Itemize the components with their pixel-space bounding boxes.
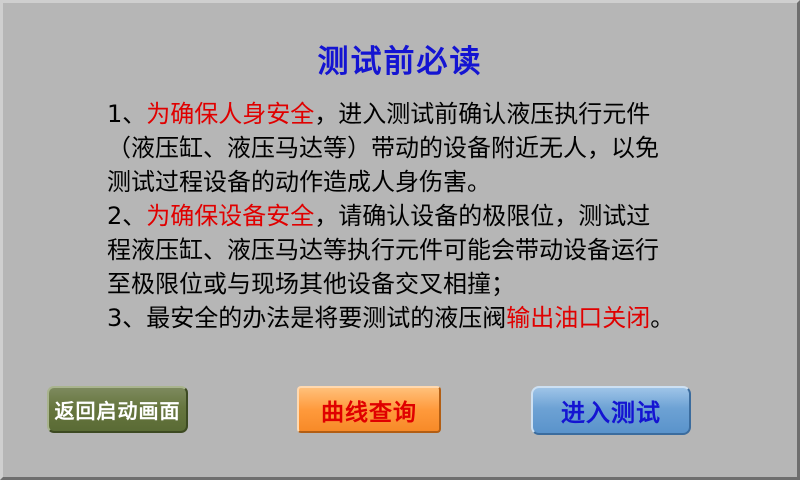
enter-test-button-label: 进入测试 [561,393,661,428]
notice-segment: 为确保设备安全 [146,202,314,230]
notice-line: 3、最安全的办法是将要测试的液压阀输出油口关闭。 [107,301,707,335]
notice-segment: 输出油口关闭 [506,304,650,332]
safety-notice-text: 1、为确保人身安全，进入测试前确认液压执行元件（液压缸、液压马达等）带动的设备附… [107,97,707,335]
notice-segment: 程液压缸、液压马达等执行元件可能会带动设备运行 [107,236,659,264]
notice-line: 2、为确保设备安全，请确认设备的极限位，测试过 [107,199,707,233]
notice-segment: 。 [650,304,674,332]
notice-line: 测试过程设备的动作造成人身伤害。 [107,165,707,199]
curve-query-button-label: 曲线查询 [321,393,417,427]
notice-segment: （液压缸、液压马达等）带动的设备附近无人，以免 [107,134,659,162]
screen-content: 测试前必读 1、为确保人身安全，进入测试前确认液压执行元件（液压缸、液压马达等）… [3,3,797,477]
notice-segment: ，进入测试前确认液压执行元件 [314,100,650,128]
notice-segment: 1、 [107,100,146,128]
notice-segment: 3、最安全的办法是将要测试的液压阀 [107,304,506,332]
back-to-startup-button[interactable]: 返回启动画面 [47,386,188,433]
notice-line: 1、为确保人身安全，进入测试前确认液压执行元件 [107,97,707,131]
enter-test-button[interactable]: 进入测试 [531,386,691,435]
notice-segment: ，请确认设备的极限位，测试过 [314,202,650,230]
notice-line: 至极限位或与现场其他设备交叉相撞； [107,267,707,301]
notice-segment: 2、 [107,202,146,230]
page-title: 测试前必读 [3,36,797,81]
hmi-screen: 测试前必读 1、为确保人身安全，进入测试前确认液压执行元件（液压缸、液压马达等）… [0,0,800,480]
notice-segment: 至极限位或与现场其他设备交叉相撞； [107,270,515,298]
notice-segment: 为确保人身安全 [146,100,314,128]
notice-segment: 测试过程设备的动作造成人身伤害。 [107,168,491,196]
notice-line: （液压缸、液压马达等）带动的设备附近无人，以免 [107,131,707,165]
back-to-startup-button-label: 返回启动画面 [55,395,181,424]
curve-query-button[interactable]: 曲线查询 [297,386,441,433]
notice-line: 程液压缸、液压马达等执行元件可能会带动设备运行 [107,233,707,267]
